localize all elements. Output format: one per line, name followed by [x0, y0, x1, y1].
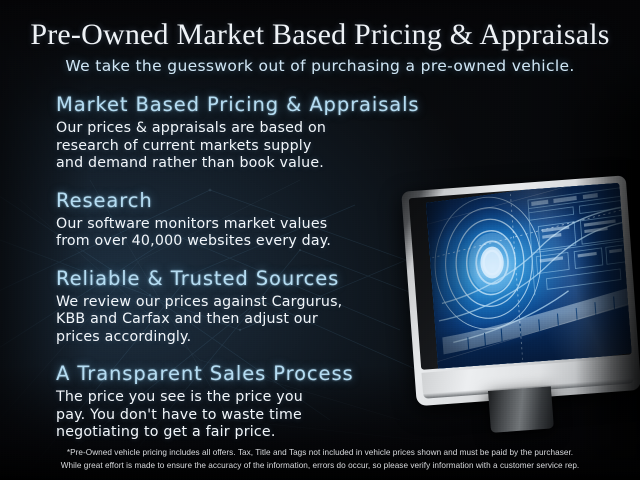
feature-section: Reliable & Trusted Sources We review our…	[56, 266, 436, 347]
body-line: Our prices & appraisals are based on	[56, 120, 436, 138]
section-body: Our software monitors market values from…	[56, 216, 436, 251]
feature-section: A Transparent Sales Process The price yo…	[56, 361, 436, 442]
page-subtitle: We take the guesswork out of purchasing …	[0, 57, 640, 76]
section-body: The price you see is the price you pay. …	[56, 389, 436, 442]
feature-section: Research Our software monitors market va…	[56, 188, 436, 251]
section-heading: Reliable & Trusted Sources	[56, 266, 436, 291]
section-heading: A Transparent Sales Process	[56, 361, 436, 386]
section-heading: Market Based Pricing & Appraisals	[56, 92, 436, 117]
body-line: We review our prices against Cargurus,	[56, 294, 436, 312]
body-line: The price you see is the price you	[56, 389, 436, 407]
monitor-screen	[426, 183, 632, 370]
body-line: research of current markets supply	[56, 138, 436, 156]
body-line: from over 40,000 websites every day.	[56, 233, 436, 251]
disclaimer-line-1: *Pre-Owned vehicle pricing includes all …	[0, 446, 640, 459]
computer-monitor-graphic	[401, 175, 640, 411]
page-title: Pre-Owned Market Based Pricing & Apprais…	[0, 18, 640, 52]
disclaimer: *Pre-Owned vehicle pricing includes all …	[0, 446, 640, 472]
section-heading: Research	[56, 188, 436, 213]
feature-section: Market Based Pricing & Appraisals Our pr…	[56, 92, 436, 173]
body-line: KBB and Carfax and then adjust our	[56, 311, 436, 329]
monitor-bezel	[409, 183, 632, 370]
body-line: negotiating to get a fair price.	[56, 424, 436, 442]
section-body: Our prices & appraisals are based on res…	[56, 120, 436, 173]
section-body: We review our prices against Cargurus, K…	[56, 294, 436, 347]
screen-shading	[426, 183, 632, 370]
monitor-stand	[488, 386, 554, 433]
promo-banner: Pre-Owned Market Based Pricing & Apprais…	[0, 0, 640, 480]
body-line: Our software monitors market values	[56, 216, 436, 234]
disclaimer-line-2: While great effort is made to ensure the…	[0, 459, 640, 472]
feature-sections: Market Based Pricing & Appraisals Our pr…	[56, 92, 436, 442]
body-line: and demand rather than book value.	[56, 155, 436, 173]
body-line: pay. You don't have to waste time	[56, 407, 436, 425]
body-line: prices accordingly.	[56, 329, 436, 347]
